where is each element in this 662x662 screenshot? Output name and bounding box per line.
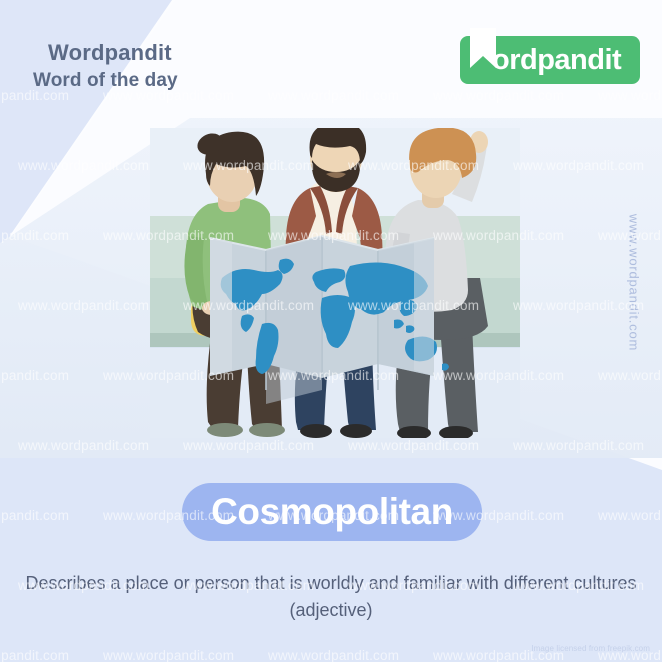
page-title: Wordpandit [48,40,172,66]
wordpandit-logo[interactable]: ordpandit [460,36,640,84]
page-subtitle: Word of the day [33,70,178,92]
illustration-people-with-map [150,128,520,438]
word-of-the-day-pill: Cosmopolitan [182,483,482,541]
bookmark-w-icon [470,28,496,72]
word-definition: Describes a place or person that is worl… [14,570,648,624]
word-of-the-day-card: Wordpandit Word of the day ordpandit Cos… [0,0,662,662]
image-credit: Image licensed from freepik.com [531,644,650,653]
side-watermark-url: www.wordpandit.com [627,203,642,363]
word-label: Cosmopolitan [211,491,453,533]
logo-text: ordpandit [492,44,621,77]
illustration-svg [150,128,520,438]
